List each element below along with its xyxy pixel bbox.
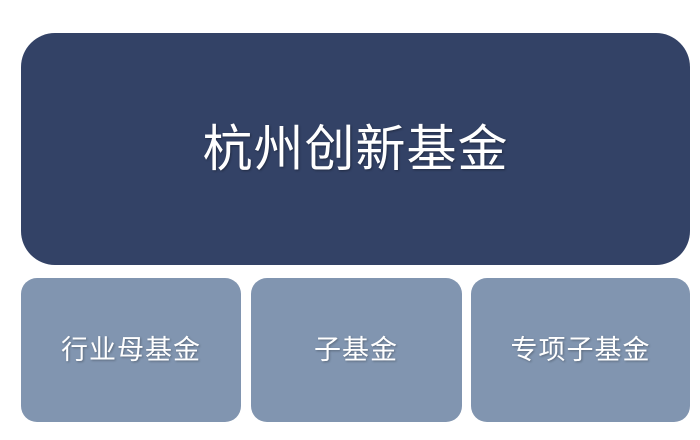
fund-structure-diagram: 杭州创新基金 行业母基金 子基金 专项子基金 [0, 0, 700, 440]
child-node-industry-parent-fund[interactable]: 行业母基金 [21, 278, 241, 422]
child-node-row: 行业母基金 子基金 专项子基金 [21, 278, 690, 422]
child-node-sub-fund[interactable]: 子基金 [251, 278, 462, 422]
root-node-label: 杭州创新基金 [203, 124, 509, 174]
child-node-label: 行业母基金 [61, 337, 201, 364]
child-node-label: 子基金 [314, 337, 398, 364]
child-node-label: 专项子基金 [511, 337, 651, 364]
root-node-hangzhou-innovation-fund[interactable]: 杭州创新基金 [21, 33, 690, 265]
child-node-special-sub-fund[interactable]: 专项子基金 [471, 278, 690, 422]
